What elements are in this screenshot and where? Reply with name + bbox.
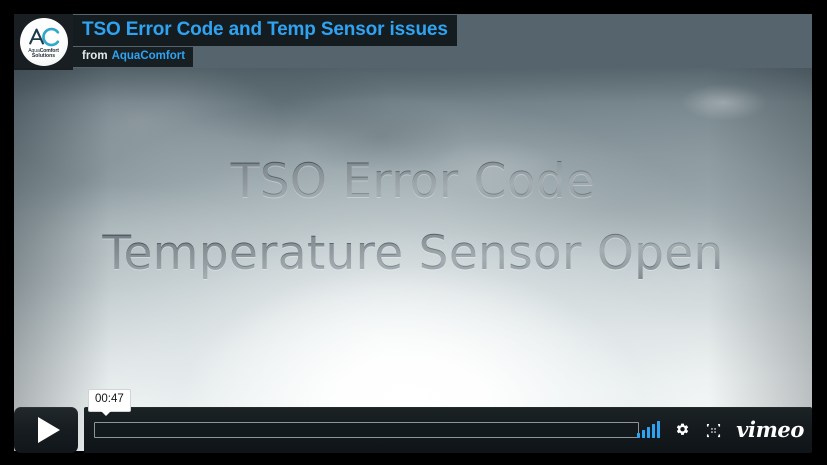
byline-author-link[interactable]: AquaComfort <box>112 50 185 62</box>
channel-logo-badge[interactable]: AquaComfort Solutions <box>14 14 73 70</box>
time-display: 00:47 <box>88 389 131 412</box>
settings-button[interactable] <box>673 421 691 439</box>
byline-prefix: from <box>82 50 108 62</box>
player-control-bar: 00:47 <box>14 407 812 459</box>
byline-box: from AquaComfort <box>73 47 193 67</box>
player-header: AquaComfort Solutions TSO Error Code and… <box>14 14 812 68</box>
aquacomfort-monogram-icon <box>27 26 61 47</box>
video-title-link[interactable]: TSO Error Code and Temp Sensor issues <box>82 19 448 41</box>
video-frame[interactable]: TSO Error Code Temperature Sensor Open <box>14 68 812 451</box>
vimeo-brand-logo[interactable]: vimeo <box>736 419 804 440</box>
video-stage[interactable]: TSO Error Code Temperature Sensor Open A… <box>14 14 812 451</box>
video-haze-lower <box>14 68 812 451</box>
gear-icon <box>674 422 691 439</box>
video-vignette <box>14 68 812 451</box>
control-bar-body: 00:47 <box>84 407 812 453</box>
title-box: TSO Error Code and Temp Sensor issues <box>73 15 457 46</box>
video-haze-upper <box>14 68 812 451</box>
play-icon <box>38 417 60 443</box>
volume-icon[interactable] <box>637 422 660 438</box>
expand-icon <box>706 423 721 438</box>
avatar: AquaComfort Solutions <box>20 18 68 66</box>
avatar-wordmark-bottom: Solutions <box>32 54 55 60</box>
video-overlay-line-2: Temperature Sensor Open <box>14 228 812 281</box>
seek-bar[interactable] <box>94 422 639 438</box>
right-controls: vimeo <box>637 407 804 453</box>
fullscreen-button[interactable] <box>704 421 722 439</box>
vimeo-player: TSO Error Code Temperature Sensor Open A… <box>0 0 827 465</box>
byline-row: from AquaComfort <box>73 46 193 67</box>
video-overlay-text: TSO Error Code Temperature Sensor Open <box>14 156 812 280</box>
play-button[interactable] <box>14 407 78 453</box>
title-row: TSO Error Code and Temp Sensor issues <box>73 14 457 46</box>
video-overlay-line-1: TSO Error Code <box>14 156 812 209</box>
